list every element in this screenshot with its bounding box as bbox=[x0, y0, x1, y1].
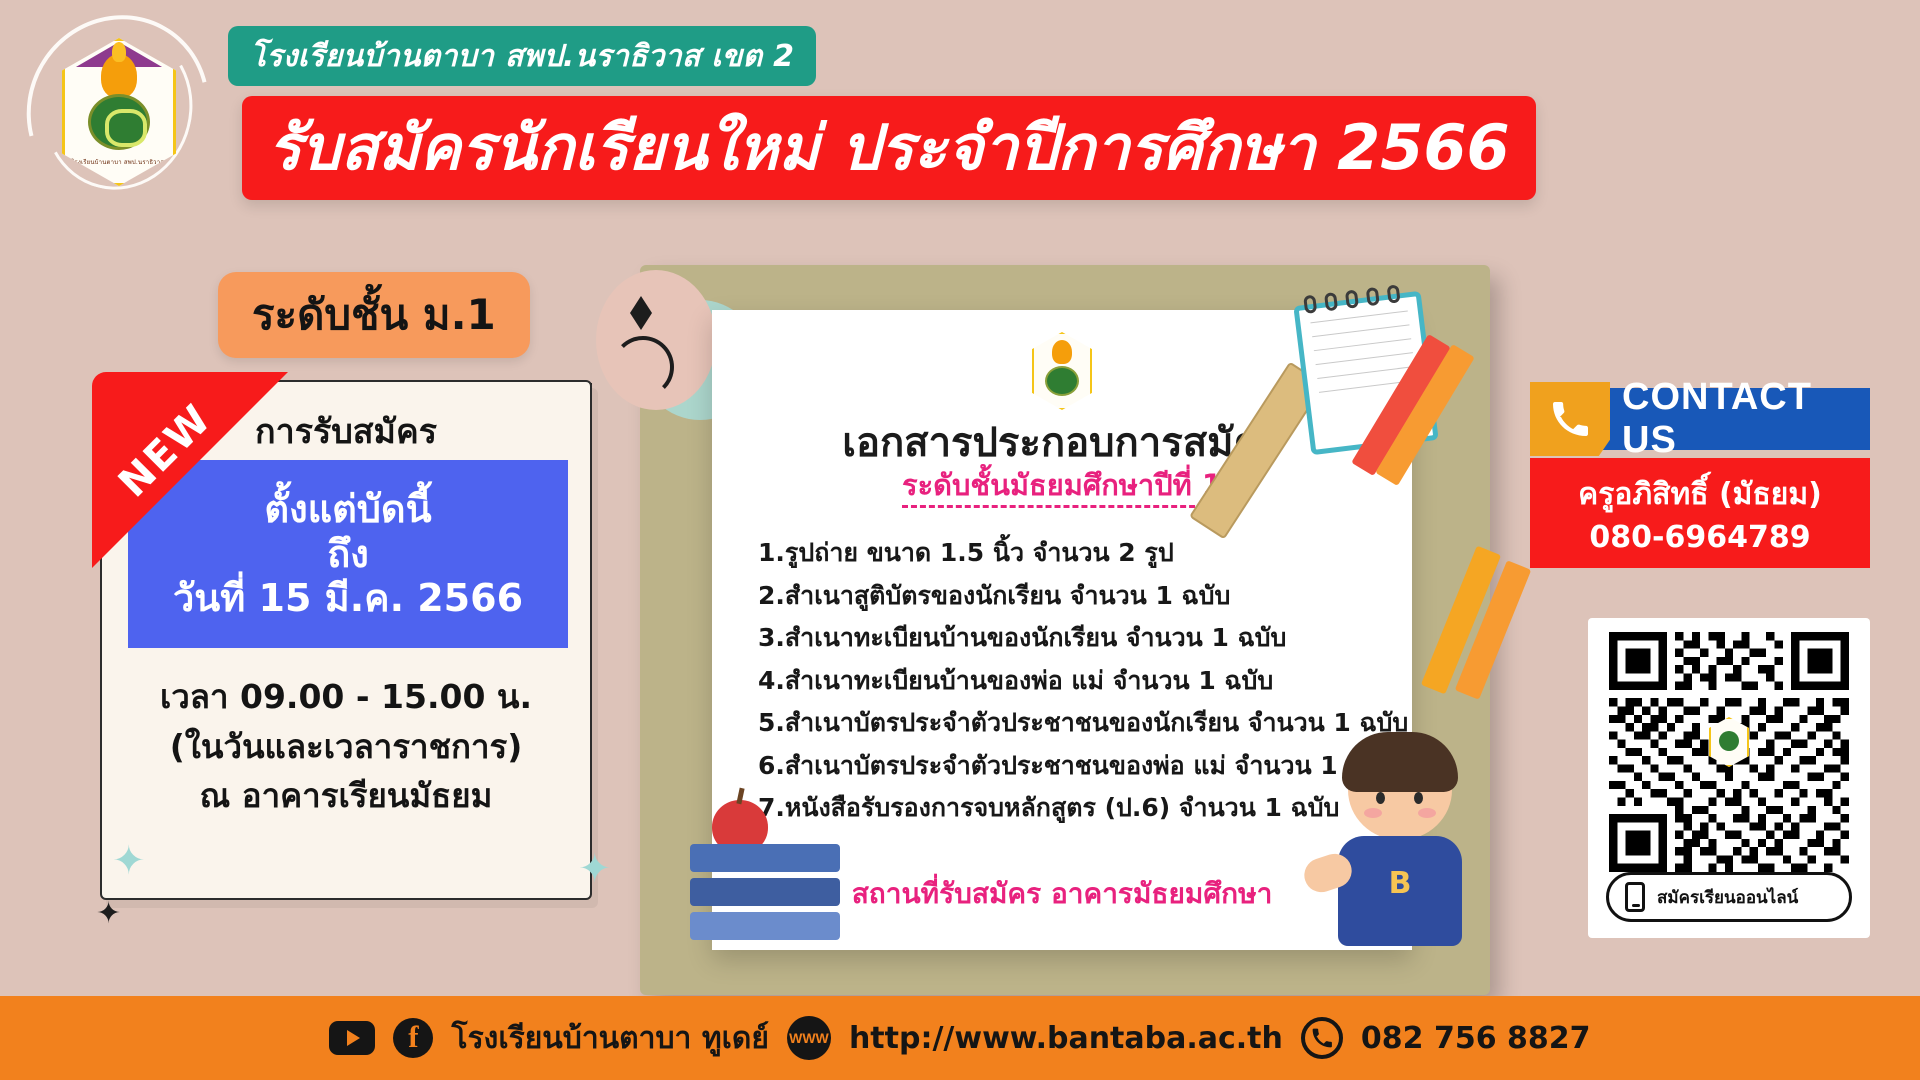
student-illustration: B bbox=[1320, 740, 1480, 940]
main-title-banner: รับสมัครนักเรียนใหม่ ประจำปีการศึกษา 256… bbox=[242, 96, 1536, 200]
document-subtitle: ระดับชั้นมัธยมศึกษาปีที่ 1 bbox=[712, 462, 1412, 508]
admission-date-box: ตั้งแต่บัดนี้ ถึง วันที่ 15 มี.ค. 2566 bbox=[128, 460, 568, 648]
list-item: 3.สำเนาทะเบียนบ้านของนักเรียน จำนวน 1 ฉบ… bbox=[758, 617, 1382, 660]
list-item: 5.สำเนาบัตรประจำตัวประชาชนของนักเรียน จำ… bbox=[758, 702, 1382, 745]
document-logo-oval bbox=[1045, 366, 1079, 396]
contact-details-box: ครูอภิสิทธิ์ (มัธยม) 080-6964789 bbox=[1530, 458, 1870, 568]
telephone-glyph bbox=[1311, 1027, 1333, 1049]
qr-code-card[interactable]: สมัครเรียนออนไลน์ bbox=[1588, 618, 1870, 938]
grade-level-pill: ระดับชั้น ม.1 bbox=[218, 272, 530, 358]
student-shirt-letter: B bbox=[1389, 866, 1412, 901]
footer-bar: f โรงเรียนบ้านตาบา ทูเดย์ WWW http://www… bbox=[0, 996, 1920, 1080]
facebook-icon[interactable]: f bbox=[393, 1018, 433, 1058]
document-subtitle-text: ระดับชั้นมัธยมศึกษาปีที่ 1 bbox=[902, 468, 1222, 508]
mobile-phone-icon bbox=[1625, 882, 1645, 912]
admission-place: ณ อาคารเรียนมัธยม bbox=[102, 771, 590, 821]
main-title-text: รับสมัครนักเรียนใหม่ ประจำปีการศึกษา 256… bbox=[268, 117, 1510, 179]
list-item: 1.รูปถ่าย ขนาด 1.5 นิ้ว จำนวน 2 รูป bbox=[758, 532, 1382, 575]
date-line-3: วันที่ 15 มี.ค. 2566 bbox=[173, 577, 523, 620]
sparkle-icon-left: ✦ bbox=[112, 838, 146, 884]
youtube-icon[interactable] bbox=[329, 1021, 375, 1055]
qr-label-text: สมัครเรียนออนไลน์ bbox=[1657, 884, 1798, 911]
list-item: 6.สำเนาบัตรประจำตัวประชาชนของพ่อ แม่ จำน… bbox=[758, 745, 1382, 788]
contact-us-label: CONTACT US bbox=[1622, 376, 1870, 462]
list-item: 4.สำเนาทะเบียนบ้านของพ่อ แม่ จำนวน 1 ฉบั… bbox=[758, 660, 1382, 703]
student-eye-left bbox=[1376, 792, 1385, 804]
contact-phone-number: 080-6964789 bbox=[1589, 520, 1810, 555]
grade-level-label: ระดับชั้น ม.1 bbox=[252, 290, 496, 339]
school-logo: โรงเรียนบ้านตาบา สพป.นราธิวาส เขต ๒ bbox=[28, 14, 208, 204]
logo-flame-icon bbox=[101, 54, 137, 98]
books-stack-icon bbox=[690, 838, 840, 940]
student-cheek-right bbox=[1418, 808, 1436, 818]
logo-emblem-oval bbox=[88, 94, 150, 150]
globe-icon: WWW bbox=[787, 1016, 831, 1060]
sparkle-icon-dark: ✦ bbox=[96, 896, 121, 931]
footer-phone-number: 082 756 8827 bbox=[1361, 1021, 1591, 1056]
admission-card-footer: เวลา 09.00 - 15.00 น. (ในวันและเวลาราชกา… bbox=[102, 672, 590, 821]
student-eye-right bbox=[1414, 792, 1423, 804]
document-school-logo-icon bbox=[1032, 332, 1092, 410]
date-line-1: ตั้งแต่บัดนี้ bbox=[264, 488, 431, 531]
globe-icon-text: WWW bbox=[789, 1030, 829, 1046]
list-item: 7.หนังสือรับรองการจบหลักสูตร (ป.6) จำนวน… bbox=[758, 787, 1382, 830]
footer-phone-icon bbox=[1301, 1017, 1343, 1059]
contact-person: ครูอภิสิทธิ์ (มัธยม) bbox=[1578, 471, 1822, 518]
student-shirt: B bbox=[1338, 836, 1462, 946]
sparkle-icon-bottom: ✦ bbox=[578, 846, 612, 892]
decor-moon-icon bbox=[612, 336, 674, 398]
school-name-banner: โรงเรียนบ้านตาบา สพป.นราธิวาส เขต 2 bbox=[228, 26, 816, 86]
qr-online-apply-label[interactable]: สมัครเรียนออนไลน์ bbox=[1606, 872, 1852, 922]
document-logo-flame bbox=[1052, 340, 1072, 364]
footer-website[interactable]: http://www.bantaba.ac.th bbox=[849, 1021, 1283, 1056]
student-hair bbox=[1342, 732, 1458, 792]
student-cheek-left bbox=[1364, 808, 1382, 818]
admission-note: (ในวันและเวลาราชการ) bbox=[102, 722, 590, 772]
date-line-2: ถึง bbox=[327, 533, 369, 576]
requirements-list: 1.รูปถ่าย ขนาด 1.5 นิ้ว จำนวน 2 รูป 2.สำ… bbox=[758, 532, 1382, 830]
phone-icon bbox=[1550, 399, 1590, 439]
poster-root: ✦ โรงเรียนบ้านตาบา สพป.นราธิวาส เขต ๒ โร… bbox=[0, 0, 1920, 1080]
phone-icon-badge bbox=[1530, 382, 1610, 456]
admission-time: เวลา 09.00 - 15.00 น. bbox=[102, 672, 590, 722]
list-item: 2.สำเนาสูติบัตรของนักเรียน จำนวน 1 ฉบับ bbox=[758, 575, 1382, 618]
school-name-text: โรงเรียนบ้านตาบา สพป.นราธิวาส เขต 2 bbox=[250, 33, 794, 80]
footer-page-name: โรงเรียนบ้านตาบา ทูเดย์ bbox=[451, 1015, 768, 1062]
